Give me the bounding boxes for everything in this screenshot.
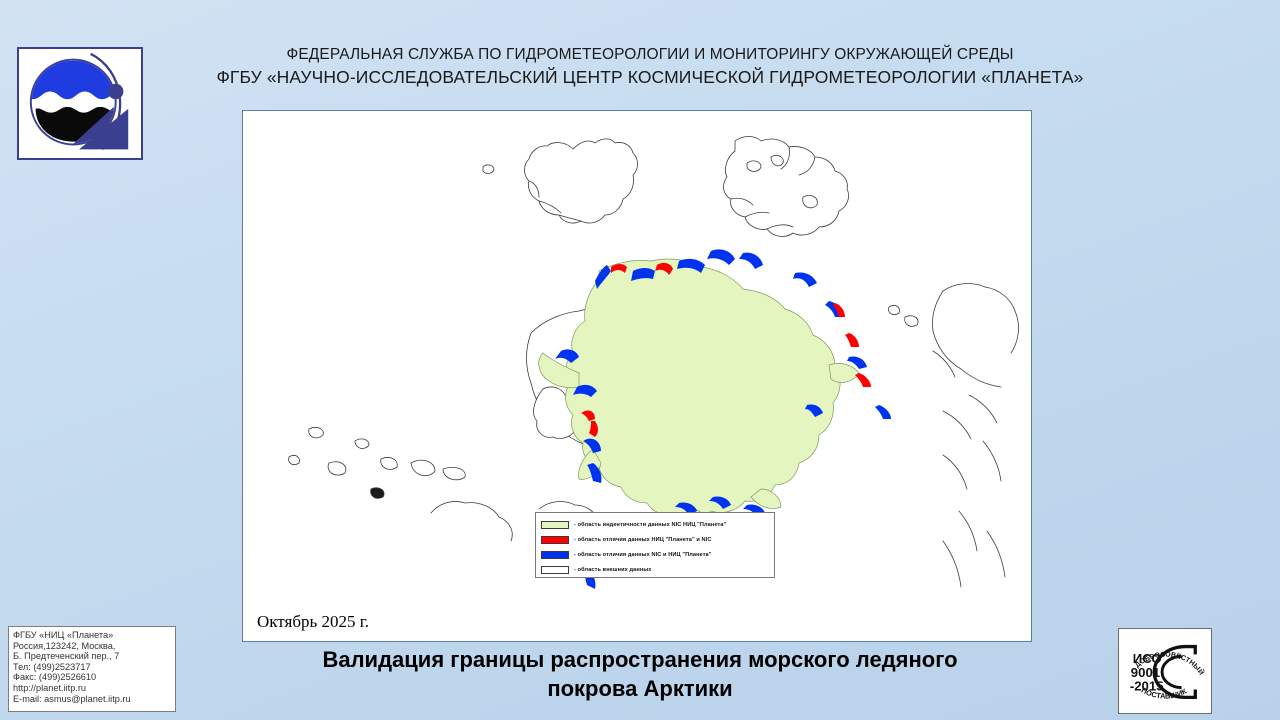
legend-row: - область отличия данных NIC и НИЦ "План… [541, 547, 769, 562]
contact-phone: Тел: (499)2523717 [13, 662, 171, 673]
contact-org: ФГБУ «НИЦ «Планета» [13, 630, 171, 641]
legend-swatch-nic-diff [541, 551, 569, 559]
contact-email[interactable]: E-mail: asmus@planet.iitp.ru [13, 694, 171, 705]
legend-row: - область внешних данных [541, 562, 769, 577]
slide-title-line-2: покрова Арктики [240, 674, 1040, 703]
slide-title-line-1: Валидация границы распространения морско… [240, 645, 1040, 674]
legend-swatch-identity [541, 521, 569, 529]
contact-street: Б. Предтеченский пер., 7 [13, 651, 171, 662]
slide-title: Валидация границы распространения морско… [240, 645, 1040, 703]
legend-row: - область индентичности данных NIC НИЦ "… [541, 517, 769, 532]
planeta-logo-icon [17, 47, 143, 160]
legend-label-nic-diff: - область отличия данных NIC и НИЦ "План… [574, 552, 712, 558]
legend-swatch-planeta-diff [541, 536, 569, 544]
map-date-label: Октябрь 2025 г. [257, 612, 369, 632]
contact-info-box: ФГБУ «НИЦ «Планета» Россия,123242, Москв… [8, 626, 176, 712]
header-titles: ФЕДЕРАЛЬНАЯ СЛУЖБА ПО ГИДРОМЕТЕОРОЛОГИИ … [150, 44, 1150, 89]
legend-label-planeta-diff: - область отличия данных НИЦ "Планета" и… [574, 537, 712, 543]
iso-certification-badge: ИСО 9001 -2015 ДОБРОСОВЕСТНЫЙ ПОСТАВЩИК [1118, 628, 1212, 714]
contact-fax: Факс: (499)2526610 [13, 672, 171, 683]
map-legend: - область индентичности данных NIC НИЦ "… [535, 512, 775, 578]
legend-label-identity: - область индентичности данных NIC НИЦ "… [574, 522, 726, 528]
agency-name: ФЕДЕРАЛЬНАЯ СЛУЖБА ПО ГИДРОМЕТЕОРОЛОГИИ … [150, 44, 1150, 65]
legend-row: - область отличия данных НИЦ "Планета" и… [541, 532, 769, 547]
legend-label-external: - область внешних данных [574, 567, 651, 573]
institute-name: ФГБУ «НАУЧНО-ИССЛЕДОВАТЕЛЬСКИЙ ЦЕНТР КОС… [150, 65, 1150, 89]
contact-city: Россия,123242, Москва, [13, 641, 171, 652]
legend-swatch-external [541, 566, 569, 574]
map-panel[interactable]: - область индентичности данных NIC НИЦ "… [242, 110, 1032, 642]
slide-header: ФЕДЕРАЛЬНАЯ СЛУЖБА ПО ГИДРОМЕТЕОРОЛОГИИ … [0, 0, 1280, 108]
contact-website[interactable]: http://planet.iitp.ru [13, 683, 171, 694]
